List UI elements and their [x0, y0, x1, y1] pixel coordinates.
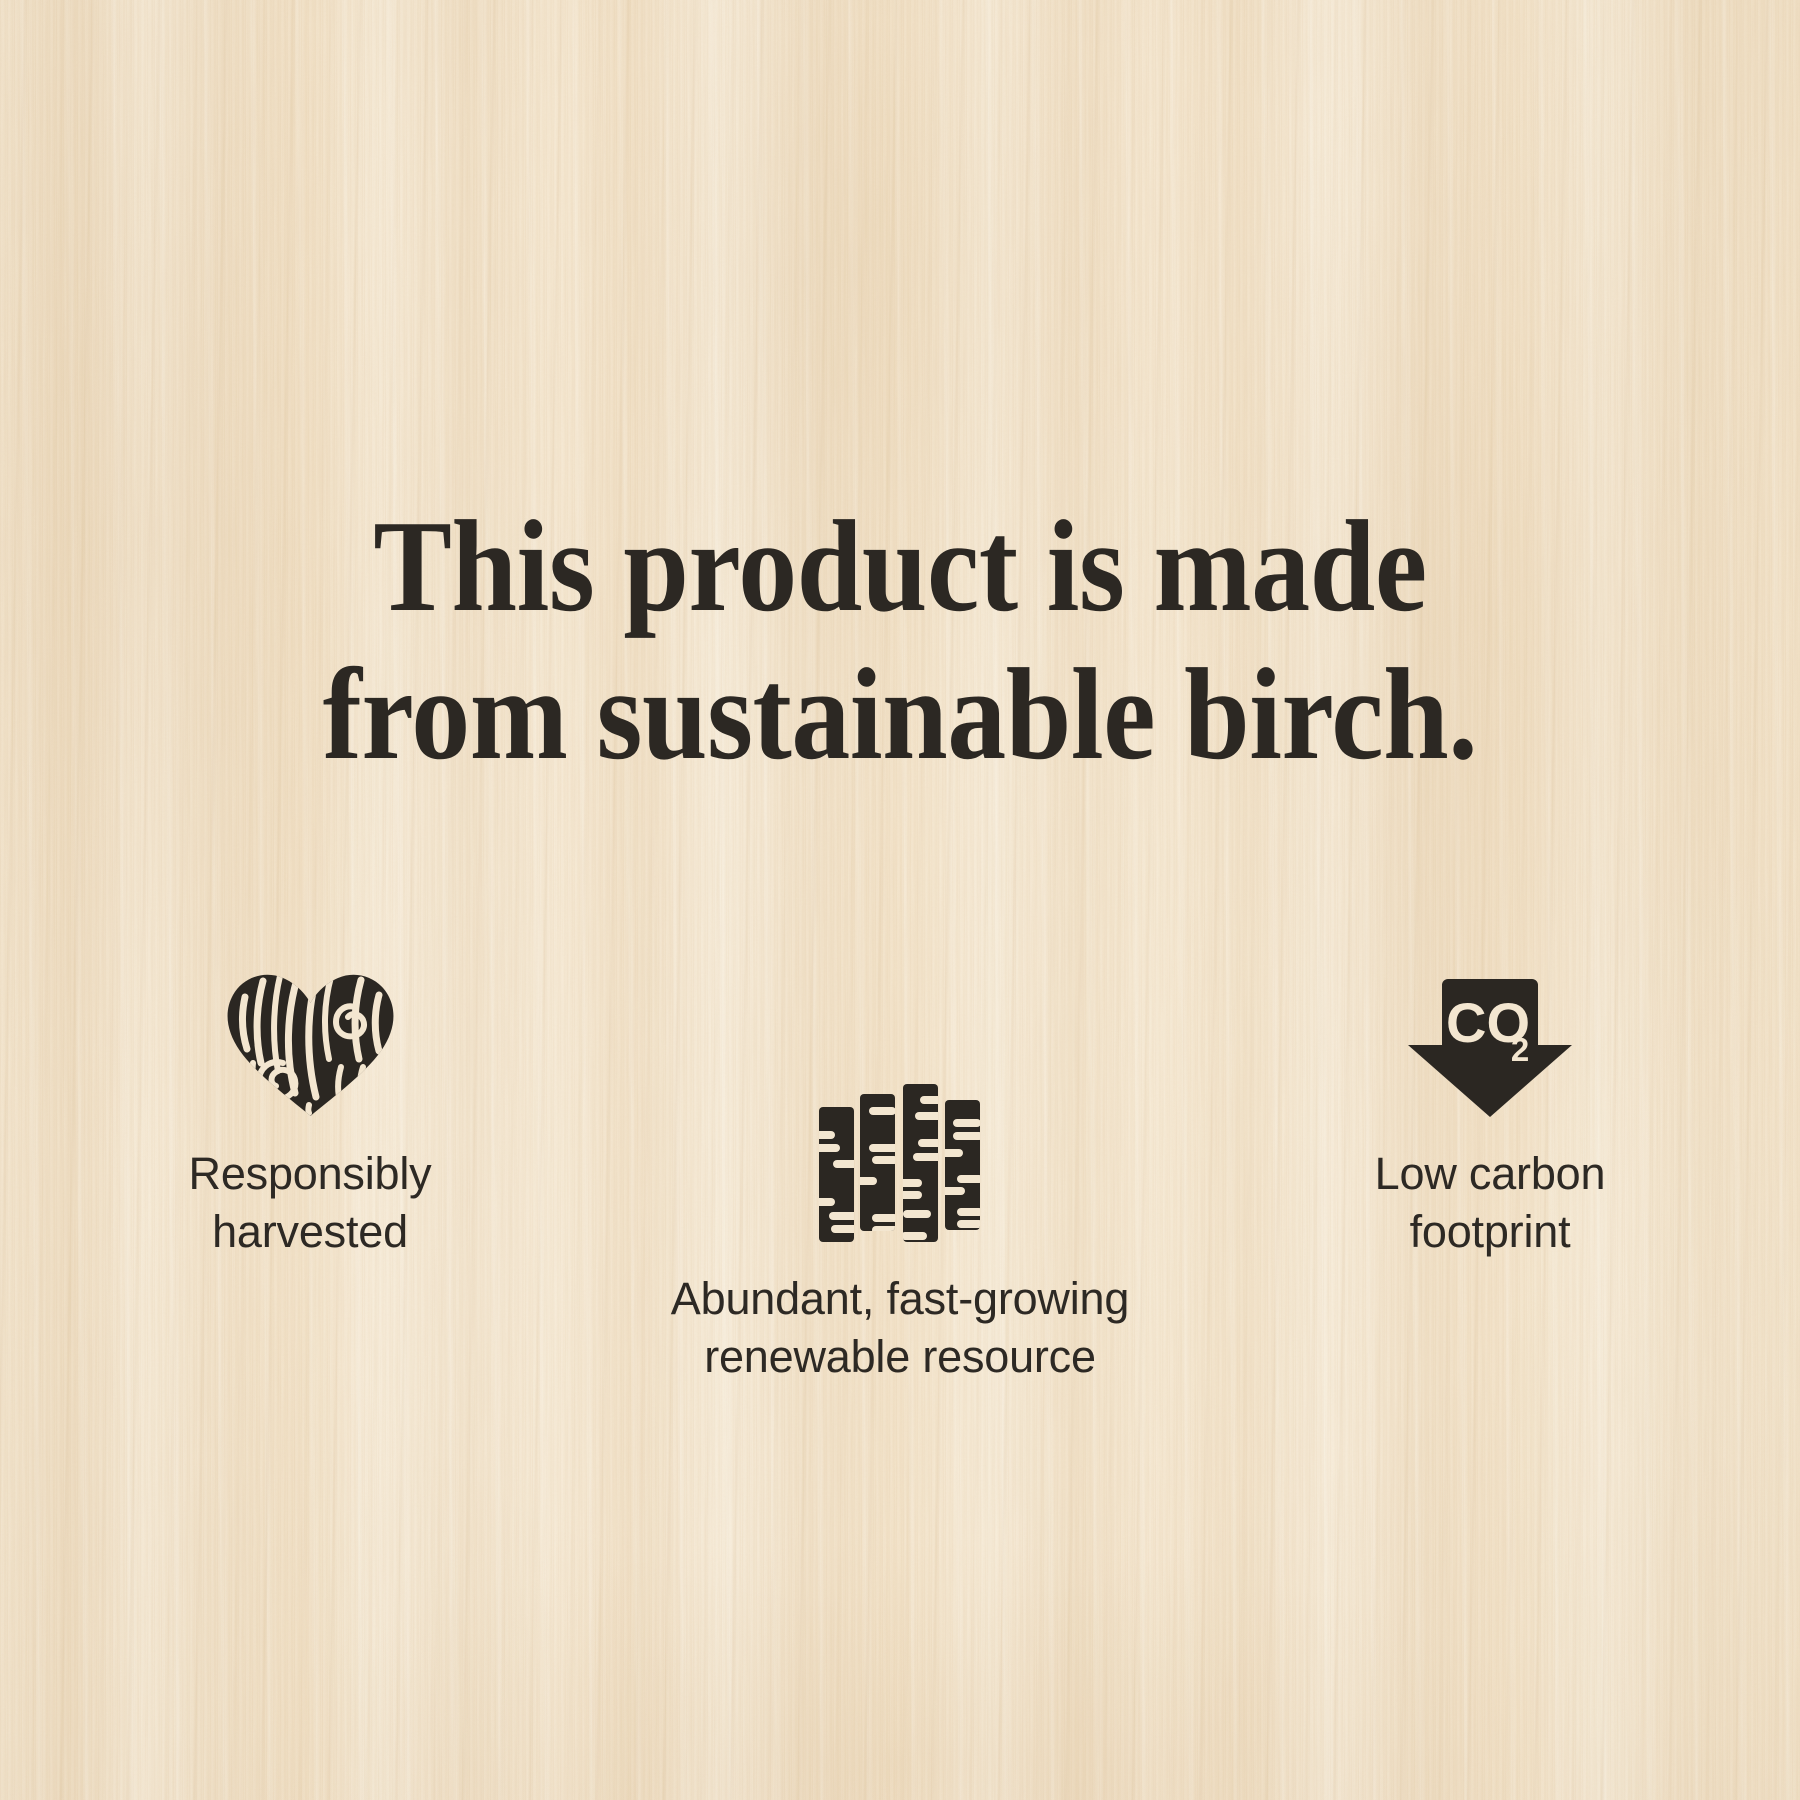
feature-caption: Abundant, fast-growing renewable resourc…	[630, 1270, 1170, 1385]
feature-low-carbon-footprint: CO 2 Low carbon footprint	[1270, 944, 1710, 1260]
birch-trunks-icon	[817, 1082, 983, 1244]
headline-line-1: This product is made	[90, 493, 1710, 641]
feature-caption: Low carbon footprint	[1270, 1145, 1710, 1260]
feature-icon-slot: CO 2	[1270, 944, 1710, 1119]
feature-caption: Responsibly harvested	[90, 1145, 530, 1260]
feature-responsibly-harvested: Responsibly harvested	[90, 944, 530, 1260]
headline-line-2: from sustainable birch.	[90, 641, 1710, 789]
co2-subscript: 2	[1511, 1031, 1529, 1068]
wood-grain-heart-icon	[223, 959, 398, 1119]
feature-renewable-resource: Abundant, fast-growing renewable resourc…	[630, 1044, 1170, 1385]
feature-icon-slot	[630, 1044, 1170, 1244]
feature-row: Responsibly harvested	[0, 900, 1800, 1460]
co2-down-arrow-icon: CO 2	[1404, 979, 1576, 1119]
page-title: This product is made from sustainable bi…	[90, 493, 1710, 789]
feature-icon-slot	[90, 944, 530, 1119]
product-sustainability-card: This product is made from sustainable bi…	[0, 0, 1800, 1800]
